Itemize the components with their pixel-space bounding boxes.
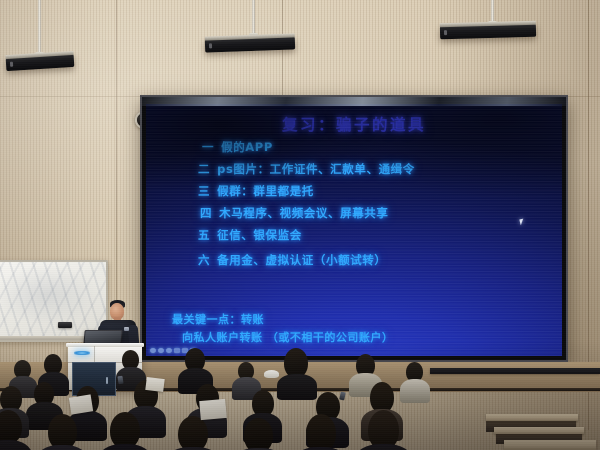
audience-head [306,414,336,450]
bullet-number: 四 [200,206,212,220]
slide-bullet-item: 三假群：群里都是托 [198,186,554,198]
whiteboard-markings [0,262,106,340]
white-cap [264,370,279,378]
ceiling-light-right [440,24,536,40]
slide-bullet-list: 一假的APP 二ps图片：工作证件、汇款单、通缉令 三假群：群里都是托 四木马程… [198,142,554,279]
audience-head [0,410,22,444]
presenter-badge [124,327,129,331]
audience-shoulders [36,445,88,450]
bullet-number: 二 [198,162,210,176]
bullet-number: 五 [198,228,210,242]
slide-title: 复习：骗子的道具 [146,113,562,135]
audience-shoulders [400,379,430,403]
audience-shoulders [98,444,152,450]
slide-bullet-item: 四木马程序、视频会议、屏幕共享 [200,208,554,220]
bullet-number: 六 [198,253,210,267]
audience [0,340,600,450]
bullet-number: 一 [202,140,214,154]
bullet-text: 木马程序、视频会议、屏幕共享 [219,206,388,220]
whiteboard-eraser [58,322,72,328]
phone-icon [339,392,346,401]
handout-paper [199,399,227,420]
presentation-slide: 复习：骗子的道具 一假的APP 二ps图片：工作证件、汇款单、通缉令 三假群：群… [146,104,562,356]
audience-shoulders [355,444,412,450]
audience-shoulders [0,440,32,450]
bullet-text: 假群：群里都是托 [217,184,314,198]
audience-head [244,418,273,450]
bullet-text: 备用金、虚拟认证（小额试转） [217,253,386,267]
slide-bullet-item: 一假的APP [202,142,554,154]
projection-screen[interactable]: 复习：骗子的道具 一假的APP 二ps图片：工作证件、汇款单、通缉令 三假群：群… [140,95,568,362]
slide-bullet-item: 二ps图片：工作证件、汇款单、通缉令 [198,164,554,176]
bullet-text: 征信、银保监会 [217,228,302,242]
audience-head [178,416,208,450]
handout-paper [145,377,164,392]
audience-shoulders [277,374,317,400]
ceiling-light-pole [38,0,41,56]
ceiling-light-pole [252,0,255,36]
bullet-text: 假的APP [221,140,273,154]
lecture-hall-photo: 复习：骗子的道具 一假的APP 二ps图片：工作证件、汇款单、通缉令 三假群：群… [0,0,600,450]
slide-closing-line-1: 最关键一点：转账 [172,311,552,327]
bullet-number: 三 [198,184,210,198]
slide-bullet-item: 五征信、银保监会 [198,230,554,242]
slide-bullet-item: 六备用金、虚拟认证（小额试转） [198,255,554,267]
handout-paper [69,394,93,414]
bullet-text: ps图片：工作证件、汇款单、通缉令 [217,162,415,176]
phone-icon [117,376,123,385]
